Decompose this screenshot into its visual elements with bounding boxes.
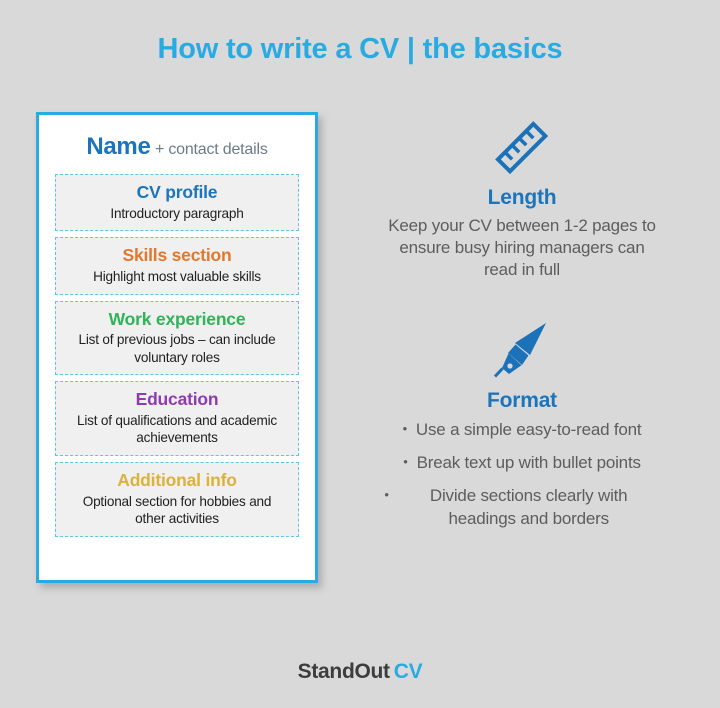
tip-length-body: Keep your CV between 1-2 pages to ensure…	[382, 215, 662, 281]
cv-section-additional-info: Additional info Optional section for hob…	[55, 462, 299, 537]
cv-section-description: Highlight most valuable skills	[62, 268, 292, 285]
page-title: How to write a CV | the basics	[0, 33, 720, 66]
cv-section-title: Skills section	[62, 245, 292, 267]
cv-section-description: Optional section for hobbies and other a…	[70, 493, 285, 528]
cv-section-work-experience: Work experience List of previous jobs – …	[55, 301, 299, 376]
list-item-label: Divide sections clearly with headings an…	[398, 485, 660, 529]
tip-length-title: Length	[352, 186, 692, 210]
tip-length: Length Keep your CV between 1-2 pages to…	[352, 112, 692, 281]
ruler-icon	[352, 112, 692, 184]
cv-section-title: Work experience	[62, 309, 292, 331]
cv-section-skills: Skills section Highlight most valuable s…	[55, 237, 299, 294]
pen-nib-icon	[352, 315, 692, 387]
cv-name-row: Name + contact details	[55, 133, 299, 161]
footer-logo: StandOutCV	[0, 660, 720, 684]
tips-column: Length Keep your CV between 1-2 pages to…	[352, 112, 692, 530]
cv-section-title: CV profile	[62, 182, 292, 204]
cv-name-label: Name	[86, 133, 150, 160]
bullet-icon: •	[403, 454, 407, 471]
cv-section-profile: CV profile Introductory paragraph	[55, 174, 299, 231]
tip-format-bullet-list: •Use a simple easy-to-read font •Break t…	[352, 419, 692, 529]
cv-section-title: Education	[62, 389, 292, 411]
logo-cv-text: CV	[394, 660, 423, 683]
cv-section-description: List of qualifications and academic achi…	[70, 412, 285, 447]
cv-section-description: List of previous jobs – can include volu…	[70, 331, 285, 366]
cv-section-description: Introductory paragraph	[62, 205, 292, 222]
cv-section-title: Additional info	[62, 470, 292, 492]
list-item: •Use a simple easy-to-read font	[352, 419, 692, 441]
cv-structure-card: Name + contact details CV profile Introd…	[36, 112, 318, 583]
list-item-label: Use a simple easy-to-read font	[416, 420, 642, 439]
list-item: •Break text up with bullet points	[352, 452, 692, 474]
cv-contact-details-label: + contact details	[155, 141, 268, 158]
logo-standout-text: StandOut	[298, 660, 390, 683]
bullet-icon: •	[403, 421, 407, 438]
tip-format: Format •Use a simple easy-to-read font •…	[352, 315, 692, 529]
tip-format-title: Format	[352, 389, 692, 413]
cv-section-education: Education List of qualifications and aca…	[55, 381, 299, 456]
bullet-icon: •	[384, 487, 388, 504]
list-item: •Divide sections clearly with headings a…	[352, 485, 692, 529]
list-item-label: Break text up with bullet points	[417, 453, 641, 472]
